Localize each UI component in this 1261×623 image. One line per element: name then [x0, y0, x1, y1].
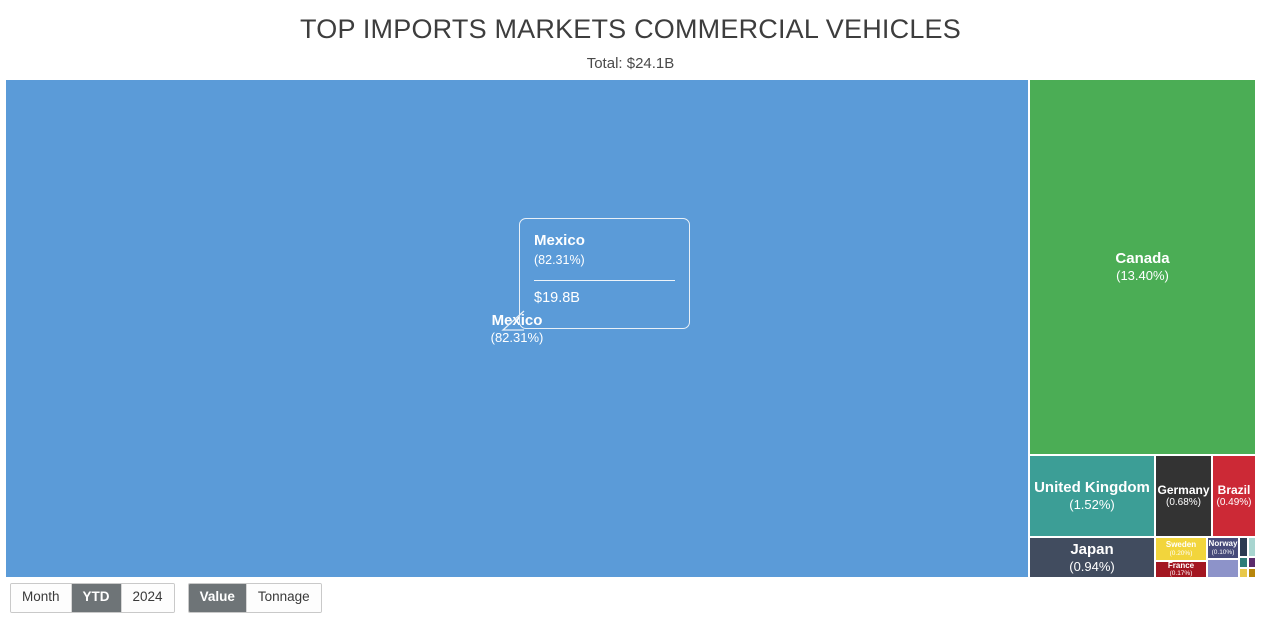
treemap-node-percent: (0.20%) [1170, 550, 1193, 558]
treemap-node-label: Japan [1070, 541, 1113, 559]
toolbar-button-tonnage[interactable]: Tonnage [247, 584, 321, 612]
treemap-node-sweden[interactable]: Sweden(0.20%) [1155, 537, 1207, 561]
treemap-node-norway[interactable]: Norway(0.10%) [1207, 537, 1239, 559]
treemap-node-14[interactable] [1239, 568, 1248, 578]
treemap-node-percent: (0.68%) [1166, 497, 1201, 509]
treemap-node-9[interactable] [1207, 559, 1239, 578]
treemap-node-12[interactable] [1239, 557, 1248, 568]
treemap-node-germany[interactable]: Germany(0.68%) [1155, 455, 1212, 537]
toolbar-button-2024[interactable]: 2024 [122, 584, 174, 612]
treemap-node-mexico[interactable]: Mexico(82.31%) [5, 79, 1029, 578]
treemap-node-percent: (13.40%) [1116, 268, 1169, 283]
toolbar-button-ytd[interactable]: YTD [72, 584, 122, 612]
toolbar-button-month[interactable]: Month [11, 584, 72, 612]
treemap-node-united-kingdom[interactable]: United Kingdom(1.52%) [1029, 455, 1155, 537]
treemap-node-13[interactable] [1248, 557, 1256, 568]
treemap-node-brazil[interactable]: Brazil(0.49%) [1212, 455, 1256, 537]
treemap-tooltip: Mexico (82.31%) $19.8B [519, 218, 690, 329]
treemap-node-percent: (0.49%) [1216, 497, 1251, 509]
treemap-node-10[interactable] [1239, 537, 1248, 557]
treemap-node-percent: (0.17%) [1170, 570, 1193, 578]
toolbar-button-value[interactable]: Value [189, 584, 247, 612]
chart-subtitle: Total: $24.1B [0, 55, 1261, 72]
treemap-node-france[interactable]: France(0.17%) [1155, 561, 1207, 578]
measure-button-group: ValueTonnage [188, 583, 322, 613]
bottom-toolbar: MonthYTD2024 ValueTonnage [10, 583, 322, 613]
page-title: TOP IMPORTS MARKETS COMMERCIAL VEHICLES [0, 14, 1261, 45]
treemap-node-label: Germany [1157, 483, 1209, 497]
treemap-node-percent: (0.94%) [1069, 559, 1115, 574]
treemap-node-percent: (1.52%) [1069, 497, 1115, 512]
tooltip-divider [534, 280, 675, 281]
period-button-group: MonthYTD2024 [10, 583, 175, 613]
treemap-node-canada[interactable]: Canada(13.40%) [1029, 79, 1256, 455]
tooltip-percent: (82.31%) [534, 251, 675, 270]
treemap-node-label: Canada [1115, 250, 1169, 268]
tooltip-value: $19.8B [534, 290, 675, 306]
treemap-node-11[interactable] [1248, 537, 1256, 557]
treemap-node-percent: (82.31%) [491, 330, 544, 345]
tooltip-title: Mexico [534, 231, 675, 251]
treemap-node-15[interactable] [1248, 568, 1256, 578]
treemap-node-japan[interactable]: Japan(0.94%) [1029, 537, 1155, 578]
treemap-node-percent: (0.10%) [1212, 549, 1235, 557]
treemap-node-label: France [1168, 561, 1194, 570]
treemap-node-label: Brazil [1218, 483, 1251, 497]
treemap-node-label: United Kingdom [1034, 479, 1150, 497]
treemap-node-label: Norway [1209, 539, 1238, 548]
treemap-page: TOP IMPORTS MARKETS COMMERCIAL VEHICLES … [0, 0, 1261, 623]
treemap-node-label: Sweden [1166, 540, 1196, 549]
